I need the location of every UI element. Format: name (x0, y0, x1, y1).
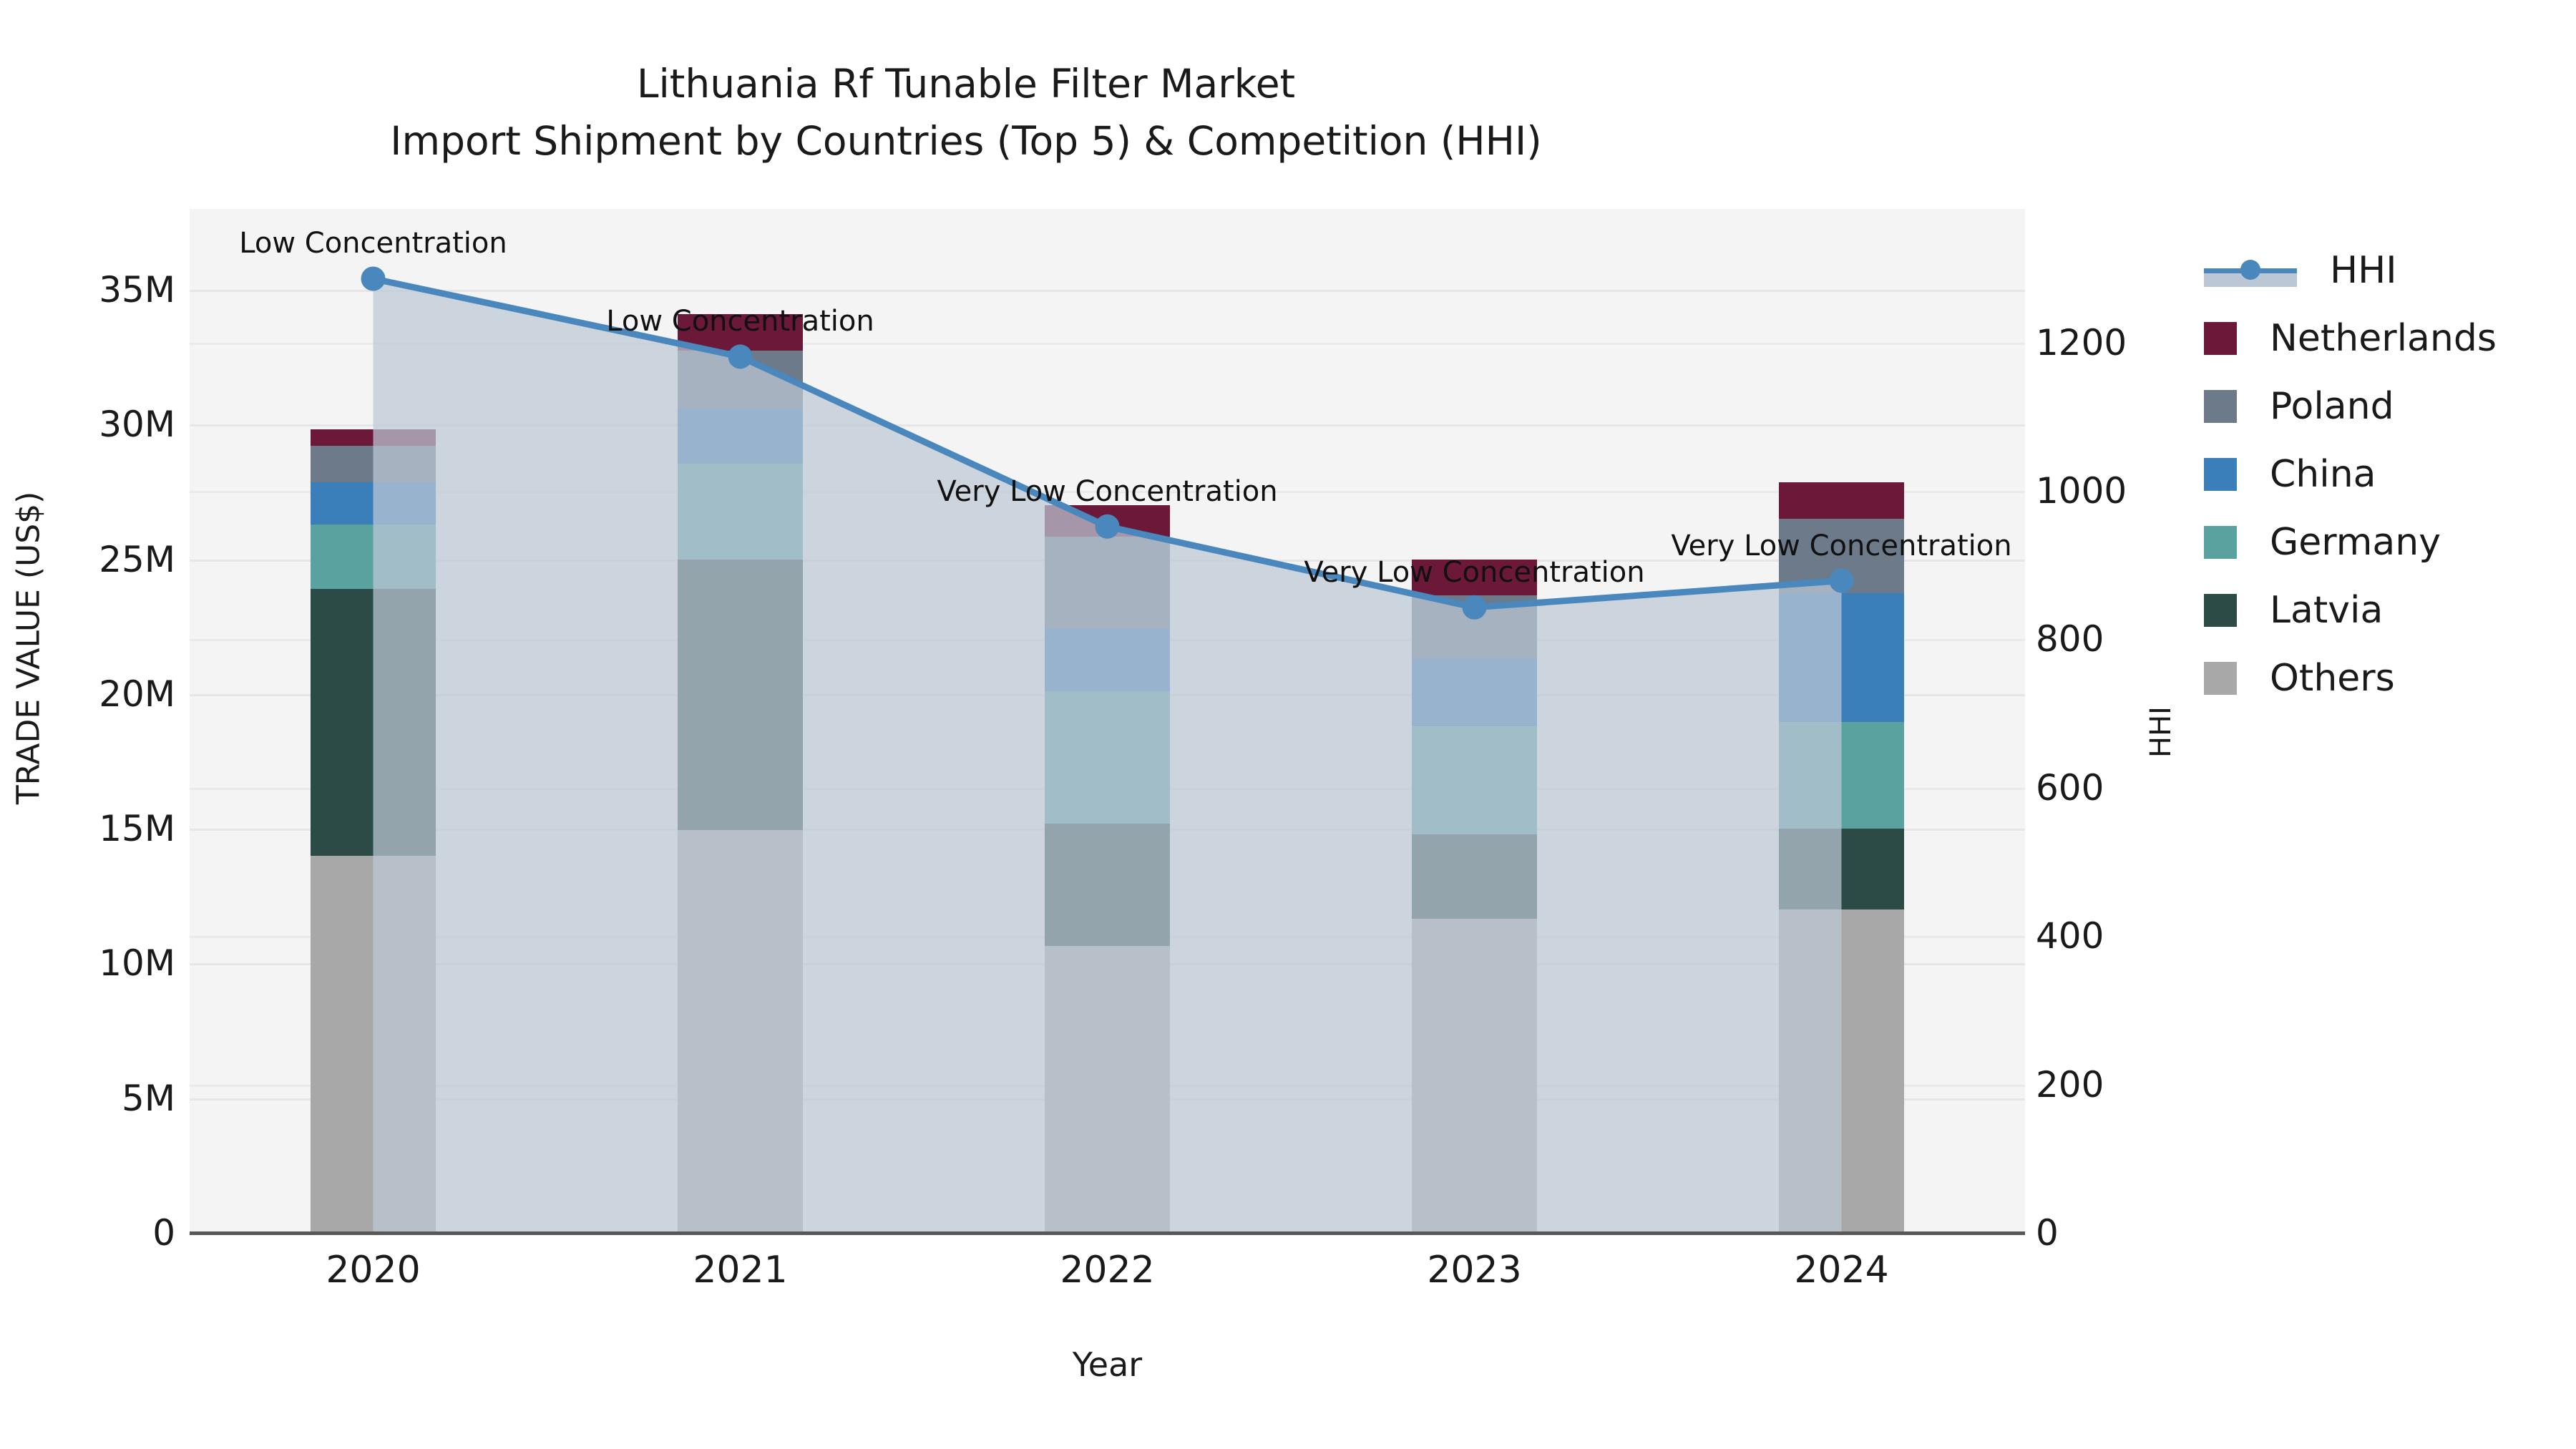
chart-title-line-1: Lithuania Rf Tunable Filter Market (0, 56, 1932, 113)
bar-segment-latvia[interactable] (678, 560, 803, 830)
bar-stack-2022[interactable] (1045, 0, 1170, 1233)
y-tick-right-1200: 1200 (2036, 322, 2215, 364)
y-tick-right-600: 600 (2036, 767, 2215, 809)
bar-segment-china[interactable] (678, 409, 803, 464)
legend-item-others[interactable]: Others (2204, 644, 2497, 712)
bar-stack-2021[interactable] (678, 0, 803, 1233)
bar-segment-poland[interactable] (311, 446, 436, 482)
hhi-annotation-2023: Very Low Concentration (1304, 556, 1644, 589)
hhi-annotation-2021: Low Concentration (606, 305, 874, 338)
legend-label-others: Others (2270, 657, 2395, 700)
y-tick-left-10M: 10M (0, 942, 175, 984)
legend-line-swatch (2204, 254, 2297, 287)
y-tick-left-0: 0 (0, 1212, 175, 1254)
legend-item-hhi[interactable]: HHI (2204, 236, 2497, 304)
x-tick-2023: 2023 (1367, 1249, 1582, 1292)
legend-item-china[interactable]: China (2204, 440, 2497, 508)
y-tick-left-5M: 5M (0, 1078, 175, 1119)
bar-segment-latvia[interactable] (311, 589, 436, 856)
y-axis-right-label: HHI (2145, 589, 2177, 875)
legend-line-marker (2240, 260, 2260, 280)
bar-segment-china[interactable] (1412, 659, 1537, 726)
x-axis-label: Year (190, 1345, 2025, 1384)
bar-segment-poland[interactable] (1412, 595, 1537, 658)
legend: HHINetherlandsPolandChinaGermanyLatviaOt… (2204, 236, 2497, 712)
bar-segment-germany[interactable] (1412, 726, 1537, 834)
legend-swatch-others (2204, 662, 2237, 695)
bar-segment-poland[interactable] (678, 351, 803, 409)
legend-label-poland: Poland (2270, 385, 2394, 428)
bar-segment-latvia[interactable] (1779, 829, 1904, 909)
bar-stack-2020[interactable] (311, 0, 436, 1233)
hhi-annotation-2024: Very Low Concentration (1671, 530, 2011, 562)
bar-stack-2023[interactable] (1412, 0, 1537, 1233)
chart-root: Lithuania Rf Tunable Filter Market Impor… (0, 0, 2576, 1449)
x-tick-2021: 2021 (633, 1249, 848, 1292)
y-tick-right-200: 200 (2036, 1064, 2215, 1106)
chart-title-line-2: Import Shipment by Countries (Top 5) & C… (0, 113, 1932, 170)
y-tick-right-0: 0 (2036, 1212, 2215, 1254)
legend-label-china: China (2270, 453, 2376, 496)
bar-segment-china[interactable] (311, 482, 436, 524)
bar-segment-others[interactable] (1045, 946, 1170, 1233)
legend-swatch-china (2204, 458, 2237, 491)
y-axis-right-ticks: 020040060080010001200 (2036, 0, 2222, 1449)
bar-segment-poland[interactable] (1045, 537, 1170, 628)
chart-title-block: Lithuania Rf Tunable Filter Market Impor… (0, 56, 1932, 170)
legend-swatch-germany (2204, 526, 2237, 559)
bar-segment-others[interactable] (1412, 919, 1537, 1233)
legend-label-hhi: HHI (2330, 249, 2397, 292)
y-tick-right-1000: 1000 (2036, 470, 2215, 512)
bar-segment-latvia[interactable] (1412, 834, 1537, 919)
bar-stack-2024[interactable] (1779, 0, 1904, 1233)
legend-swatch-poland (2204, 390, 2237, 423)
legend-item-poland[interactable]: Poland (2204, 372, 2497, 440)
legend-item-netherlands[interactable]: Netherlands (2204, 304, 2497, 372)
x-tick-2024: 2024 (1735, 1249, 1949, 1292)
legend-label-germany: Germany (2270, 521, 2441, 564)
hhi-annotation-2022: Very Low Concentration (937, 475, 1277, 508)
bar-segment-china[interactable] (1779, 593, 1904, 723)
hhi-annotation-2020: Low Concentration (239, 227, 507, 260)
x-axis-line (190, 1231, 2025, 1235)
bar-segment-netherlands[interactable] (1045, 505, 1170, 536)
legend-swatch-latvia (2204, 594, 2237, 627)
bar-segment-latvia[interactable] (1045, 824, 1170, 946)
bar-segment-germany[interactable] (1045, 691, 1170, 824)
bar-segment-germany[interactable] (678, 464, 803, 560)
bar-segment-others[interactable] (311, 856, 436, 1233)
y-tick-right-800: 800 (2036, 618, 2215, 660)
bar-segment-netherlands[interactable] (1779, 482, 1904, 519)
x-tick-2020: 2020 (266, 1249, 481, 1292)
bar-segment-others[interactable] (678, 830, 803, 1233)
bar-segment-germany[interactable] (1779, 722, 1904, 829)
y-axis-left-label: TRADE VALUE (US$) (11, 398, 47, 899)
bar-segment-germany[interactable] (311, 525, 436, 589)
y-tick-right-400: 400 (2036, 915, 2215, 957)
legend-item-germany[interactable]: Germany (2204, 508, 2497, 576)
legend-swatch-netherlands (2204, 322, 2237, 355)
legend-label-latvia: Latvia (2270, 589, 2383, 632)
bar-segment-others[interactable] (1779, 909, 1904, 1233)
x-tick-2022: 2022 (1000, 1249, 1215, 1292)
legend-item-latvia[interactable]: Latvia (2204, 576, 2497, 644)
y-tick-left-35M: 35M (0, 269, 175, 311)
legend-label-netherlands: Netherlands (2270, 317, 2497, 360)
bar-segment-netherlands[interactable] (311, 429, 436, 446)
bar-segment-china[interactable] (1045, 628, 1170, 691)
